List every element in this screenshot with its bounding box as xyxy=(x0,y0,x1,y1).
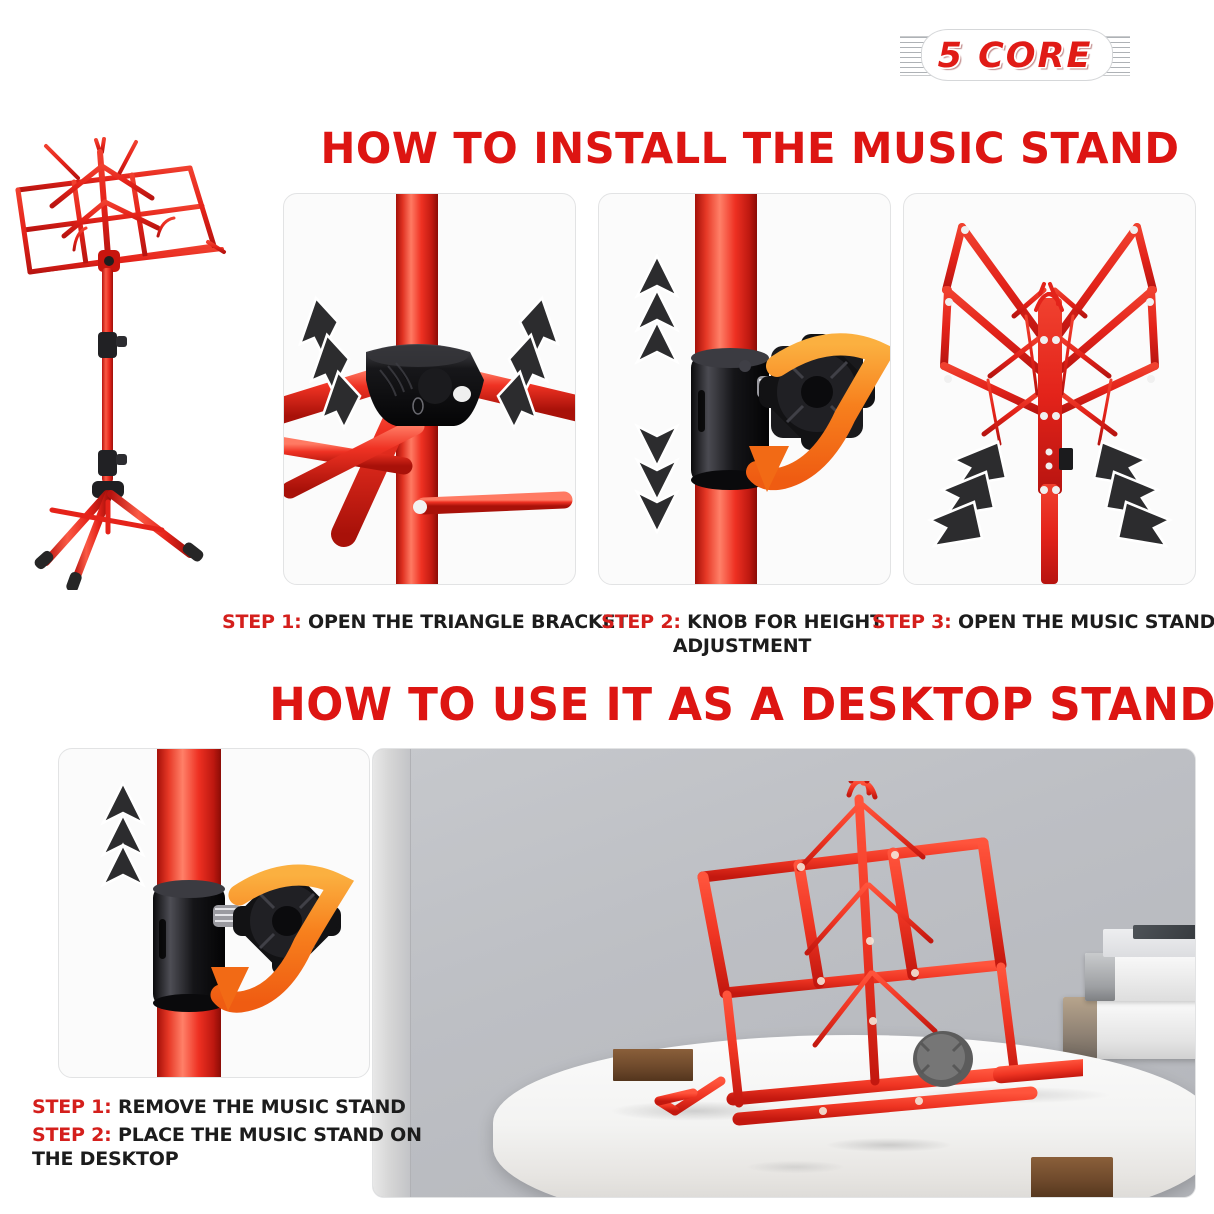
arrow-down-group xyxy=(637,426,677,532)
desktop-stand-lifestyle-photo xyxy=(372,748,1196,1198)
desktop-step1-label: STEP 1: xyxy=(32,1096,112,1118)
book-stack-middle-spine xyxy=(1085,953,1115,1001)
step1-text: OPEN THE TRIANGLE BRACKET xyxy=(308,611,628,633)
step2-label: STEP 2: xyxy=(601,611,681,633)
triangle-bracket-illustration xyxy=(284,194,575,584)
red-desktop-stand-photo-object xyxy=(563,781,1083,1198)
arrow-up-group xyxy=(103,783,143,885)
step3-caption: STEP 3: OPEN THE MUSIC STAND xyxy=(872,610,1212,634)
step2-text: KNOB FOR HEIGHT ADJUSTMENT xyxy=(673,611,883,657)
desktop-step2-caption: STEP 2: PLACE THE MUSIC STAND ON THE DES… xyxy=(32,1123,432,1172)
desktop-step1-caption: STEP 1: REMOVE THE MUSIC STAND xyxy=(32,1095,432,1119)
desktop-step1-text: REMOVE THE MUSIC STAND xyxy=(118,1096,406,1118)
arrow-up-group xyxy=(637,256,677,362)
step3-label: STEP 3: xyxy=(872,611,952,633)
step3-text: OPEN THE MUSIC STAND xyxy=(958,611,1214,633)
step1-illustration-panel xyxy=(283,193,576,585)
desktop-section-heading: HOW TO USE IT AS A DESKTOP STAND xyxy=(269,678,1191,731)
music-stand-illustration xyxy=(12,132,274,590)
book-stack-top-cover xyxy=(1133,925,1196,939)
height-knob-illustration xyxy=(599,194,890,584)
step3-illustration-panel xyxy=(903,193,1196,585)
step2-illustration-panel xyxy=(598,193,891,585)
open-music-stand-illustration xyxy=(904,194,1195,584)
hero-product-image xyxy=(12,132,274,590)
step1-label: STEP 1: xyxy=(222,611,302,633)
step2-caption: STEP 2: KNOB FOR HEIGHT ADJUSTMENT xyxy=(592,610,892,659)
arrow-down-right-group xyxy=(1094,442,1170,546)
desktop-knob-illustration-panel xyxy=(58,748,370,1078)
remove-stand-knob-illustration xyxy=(59,749,369,1077)
infographic-page: 5 CORE HOW TO INSTALL THE MUSIC STAND xyxy=(0,0,1214,1214)
step1-caption: STEP 1: OPEN THE TRIANGLE BRACKET xyxy=(222,610,582,634)
desktop-step2-label: STEP 2: xyxy=(32,1124,112,1146)
brand-logo: 5 CORE xyxy=(900,28,1130,84)
install-section-heading: HOW TO INSTALL THE MUSIC STAND xyxy=(314,124,1187,174)
arrow-down-left-group xyxy=(930,442,1006,546)
logo-text: 5 CORE xyxy=(900,28,1130,84)
wood-block-front xyxy=(1031,1157,1113,1198)
